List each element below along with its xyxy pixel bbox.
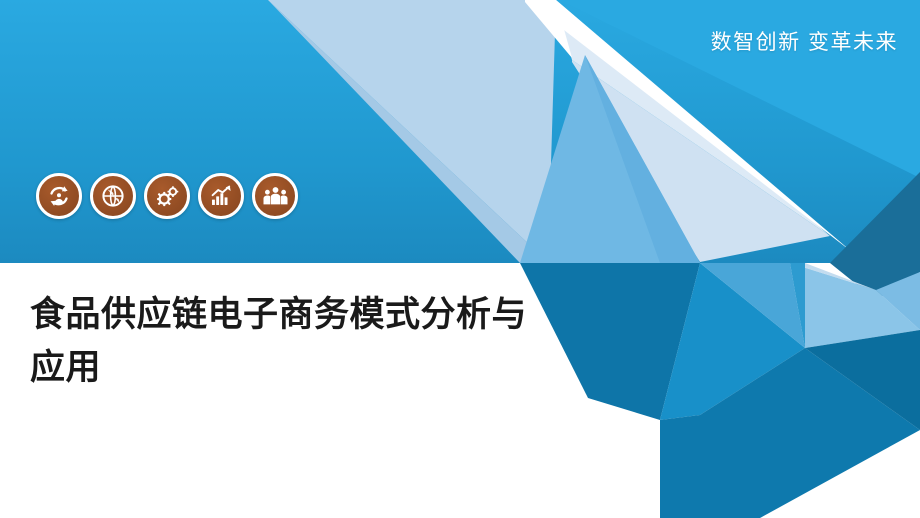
geometric-polygon-artwork [0, 0, 920, 518]
header-tagline: 数智创新 变革未来 [711, 26, 898, 56]
page-title: 食品供应链电子商务模式分析与应用 [30, 288, 550, 394]
recycle-person-icon[interactable] [36, 173, 82, 219]
presentation-title-slide: 数智创新 变革未来 [0, 0, 920, 518]
globe-icon[interactable] [90, 173, 136, 219]
bar-chart-growth-icon[interactable] [198, 173, 244, 219]
light-left-wing [268, 0, 556, 262]
team-group-icon[interactable] [252, 173, 298, 219]
deep-bottom-ramp-edge [660, 415, 700, 518]
gears-icon[interactable] [144, 173, 190, 219]
dark-right-edge [830, 172, 920, 263]
feature-icon-strip [36, 173, 298, 219]
